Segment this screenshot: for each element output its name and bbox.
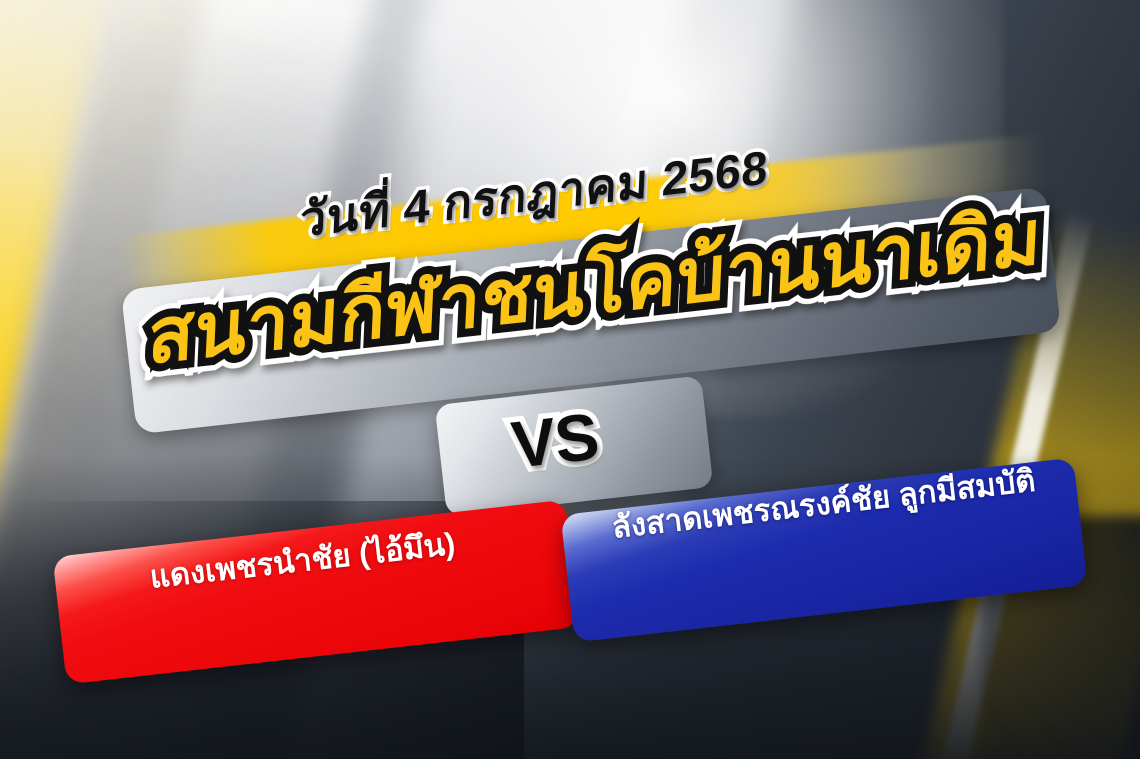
vs-label: VS — [508, 403, 601, 478]
match-poster: วันที่ 4 กรกฎาคม 2568 สนามกีฬาชนโคบ้านนา… — [0, 0, 1140, 759]
